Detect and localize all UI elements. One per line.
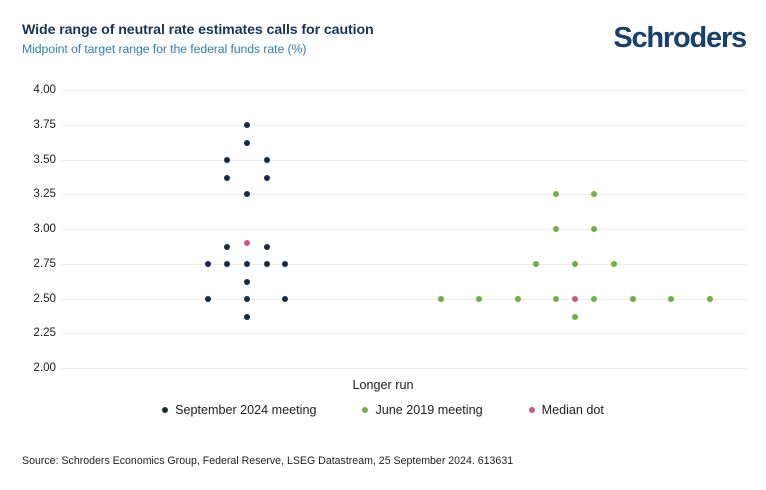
gridline — [62, 368, 746, 369]
data-point — [476, 296, 482, 302]
y-axis-tick-label: 4.00 — [18, 84, 56, 96]
data-point — [611, 261, 617, 267]
y-axis-tick-label: 2.75 — [18, 258, 56, 270]
data-point — [244, 122, 250, 128]
source-note: Source: Schroders Economics Group, Feder… — [22, 455, 513, 467]
data-point — [591, 226, 597, 232]
data-point — [264, 261, 270, 267]
gridline — [62, 299, 746, 300]
data-point — [264, 244, 270, 250]
data-point — [591, 296, 597, 302]
data-point — [244, 261, 250, 267]
data-point — [224, 175, 230, 181]
y-axis-tick-label: 2.00 — [18, 362, 56, 374]
gridline — [62, 90, 746, 91]
data-point — [668, 296, 674, 302]
gridline — [62, 229, 746, 230]
gridline — [62, 264, 746, 265]
data-point — [515, 296, 521, 302]
data-point — [244, 191, 250, 197]
data-point — [205, 296, 211, 302]
data-point — [244, 296, 250, 302]
legend-label: September 2024 meeting — [175, 403, 316, 417]
data-point — [553, 296, 559, 302]
gridline — [62, 160, 746, 161]
chart-legend: September 2024 meetingJune 2019 meetingM… — [0, 403, 766, 417]
data-point — [630, 296, 636, 302]
data-point — [572, 314, 578, 320]
data-point — [244, 314, 250, 320]
x-axis-label: Longer run — [0, 378, 766, 392]
data-point — [282, 296, 288, 302]
data-point — [707, 296, 713, 302]
y-axis-tick-label: 3.75 — [18, 119, 56, 131]
data-point — [264, 157, 270, 163]
legend-item[interactable]: September 2024 meeting — [162, 403, 316, 417]
data-point — [224, 157, 230, 163]
data-point — [438, 296, 444, 302]
data-point — [205, 261, 211, 267]
footer-divider — [22, 443, 744, 444]
data-point — [572, 296, 578, 302]
data-point — [264, 175, 270, 181]
data-point — [244, 140, 250, 146]
y-axis-tick-label: 3.25 — [18, 188, 56, 200]
data-point — [553, 226, 559, 232]
legend-swatch-icon — [162, 407, 168, 413]
legend-item[interactable]: June 2019 meeting — [362, 403, 482, 417]
legend-swatch-icon — [529, 407, 535, 413]
data-point — [553, 191, 559, 197]
gridline — [62, 194, 746, 195]
legend-label: Median dot — [542, 403, 604, 417]
data-point — [572, 261, 578, 267]
data-point — [282, 261, 288, 267]
data-point — [224, 244, 230, 250]
data-point — [591, 191, 597, 197]
legend-swatch-icon — [362, 407, 368, 413]
legend-label: June 2019 meeting — [375, 403, 482, 417]
y-axis-tick-label: 3.00 — [18, 223, 56, 235]
y-axis-tick-label: 2.25 — [18, 327, 56, 339]
data-point — [533, 261, 539, 267]
gridline — [62, 125, 746, 126]
legend-item[interactable]: Median dot — [529, 403, 604, 417]
data-point — [244, 279, 250, 285]
data-point — [224, 261, 230, 267]
data-point — [244, 240, 250, 246]
gridline — [62, 333, 746, 334]
y-axis-tick-label: 2.50 — [18, 293, 56, 305]
y-axis-tick-label: 3.50 — [18, 154, 56, 166]
